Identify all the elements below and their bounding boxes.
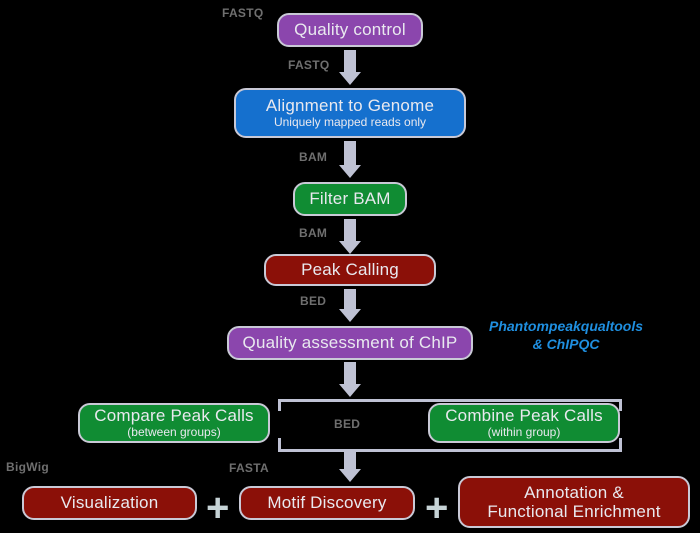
arrow-shaft-qa-to-split [344, 362, 356, 386]
arrow-shaft-alignment-to-filter [344, 141, 356, 167]
arrow-head-alignment-to-filter [339, 165, 361, 178]
node-combine-peak-calls[interactable]: Combine Peak Calls (within group) [428, 403, 620, 443]
plus-separator-right: + [425, 488, 448, 528]
tool-annotation-line1: Phantompeakqualtools [489, 318, 643, 334]
format-label-bam-filter: BAM [299, 150, 327, 164]
node-annotation-sublabel: Functional Enrichment [487, 502, 660, 521]
node-visualization[interactable]: Visualization [22, 486, 197, 520]
node-annotation-functional-enrichment[interactable]: Annotation & Functional Enrichment [458, 476, 690, 528]
arrow-head-qc-to-alignment [339, 72, 361, 85]
arrow-head-qa-to-split [339, 384, 361, 397]
arrow-head-peaks-to-qa [339, 309, 361, 322]
connector-bar-top [278, 399, 622, 402]
node-compare-peak-calls[interactable]: Compare Peak Calls (between groups) [78, 403, 270, 443]
node-quality-control-label: Quality control [294, 20, 406, 39]
format-label-fastq-input: FASTQ [222, 6, 264, 20]
node-combine-peak-calls-sublabel: (within group) [488, 426, 561, 439]
node-peak-calling[interactable]: Peak Calling [264, 254, 436, 286]
node-quality-assessment[interactable]: Quality assessment of ChIP [227, 326, 473, 360]
arrow-shaft-filter-to-peaks [344, 219, 356, 243]
format-label-bam-peaks: BAM [299, 226, 327, 240]
node-filter-bam[interactable]: Filter BAM [293, 182, 407, 216]
connector-rise-right [619, 438, 622, 450]
node-quality-assessment-label: Quality assessment of ChIP [243, 333, 458, 352]
node-alignment-sublabel: Uniquely mapped reads only [274, 116, 426, 129]
node-annotation-label: Annotation & [524, 483, 624, 502]
arrow-shaft-qc-to-alignment [344, 50, 356, 74]
arrow-shaft-split-to-motif [344, 449, 356, 471]
format-label-fastq-aligned: FASTQ [288, 58, 330, 72]
arrow-shaft-peaks-to-qa [344, 289, 356, 311]
node-compare-peak-calls-sublabel: (between groups) [127, 426, 220, 439]
arrow-head-split-to-motif [339, 469, 361, 482]
node-motif-discovery[interactable]: Motif Discovery [239, 486, 415, 520]
node-alignment-label: Alignment to Genome [266, 96, 434, 115]
connector-drop-right [619, 399, 622, 411]
plus-separator-left: + [206, 488, 229, 528]
node-peak-calling-label: Peak Calling [301, 260, 399, 279]
tool-annotation-line2: & ChIPQC [533, 336, 600, 352]
connector-bar-bottom [278, 449, 622, 452]
connector-rise-left [278, 438, 281, 450]
node-filter-bam-label: Filter BAM [309, 189, 390, 208]
workflow-diagram: FASTQ Quality control FASTQ Alignment to… [0, 0, 700, 533]
tool-annotation-qc: Phantompeakqualtools & ChIPQC [489, 318, 643, 353]
connector-drop-left [278, 399, 281, 411]
node-compare-peak-calls-label: Compare Peak Calls [94, 406, 254, 425]
node-alignment-to-genome[interactable]: Alignment to Genome Uniquely mapped read… [234, 88, 466, 138]
node-visualization-label: Visualization [61, 493, 159, 512]
arrow-head-filter-to-peaks [339, 241, 361, 254]
node-quality-control[interactable]: Quality control [277, 13, 423, 47]
node-motif-discovery-label: Motif Discovery [267, 493, 386, 512]
format-label-fasta: FASTA [229, 461, 269, 475]
format-label-bed-qc: BED [300, 294, 326, 308]
format-label-bigwig: BigWig [6, 460, 49, 474]
node-combine-peak-calls-label: Combine Peak Calls [445, 406, 603, 425]
format-label-bed-split: BED [334, 417, 360, 431]
